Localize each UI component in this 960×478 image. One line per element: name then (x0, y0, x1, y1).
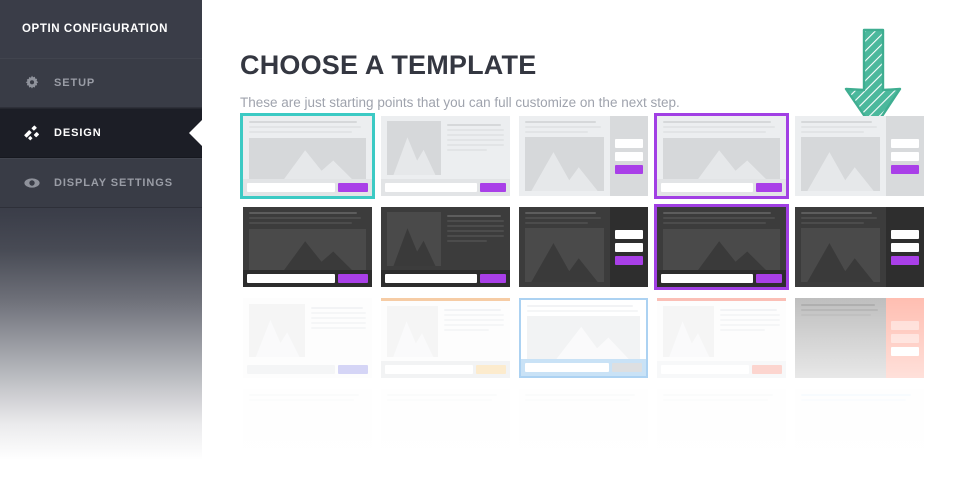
template-cta-button (756, 274, 782, 283)
template-input (385, 274, 477, 283)
eye-icon (20, 172, 44, 194)
template-sidebar-pane (886, 298, 924, 378)
template-cta-button (752, 365, 782, 374)
template-cta-button (338, 365, 368, 374)
template-thumbnail[interactable] (654, 204, 789, 290)
template-thumbnail[interactable] (516, 295, 651, 381)
template-thumbnail[interactable] (792, 204, 927, 290)
sidebar-item-design[interactable]: DESIGN (0, 108, 202, 158)
sidebar-item-label: SETUP (54, 77, 95, 89)
template-input (525, 363, 609, 372)
template-input (385, 365, 473, 374)
template-sidebar-pane (886, 207, 924, 287)
template-thumbnail[interactable] (378, 386, 513, 472)
template-sidebar-pane (610, 207, 648, 287)
template-thumbnail[interactable] (792, 386, 927, 472)
template-thumbnail[interactable] (240, 386, 375, 472)
template-thumbnail[interactable] (792, 295, 927, 381)
template-thumbnail[interactable] (792, 113, 927, 199)
template-cta-button (756, 183, 782, 192)
template-input (661, 274, 753, 283)
main-content: CHOOSE A TEMPLATE These are just startin… (202, 0, 960, 478)
template-cta-button (338, 274, 368, 283)
template-cta-button (480, 183, 506, 192)
template-thumbnail[interactable] (654, 386, 789, 472)
sidebar-item-label: DISPLAY SETTINGS (54, 177, 173, 189)
template-thumbnail[interactable] (240, 113, 375, 199)
optin-configuration-screen: OPTIN CONFIGURATION SETUP (0, 0, 960, 478)
wand-icon (20, 122, 44, 144)
sidebar-header-title: OPTIN CONFIGURATION (22, 23, 168, 35)
sidebar-item-display-settings[interactable]: DISPLAY SETTINGS (0, 158, 202, 208)
template-thumbnail[interactable] (378, 295, 513, 381)
template-row-4 (240, 386, 930, 472)
template-thumbnail[interactable] (654, 295, 789, 381)
active-caret-icon (189, 120, 202, 146)
template-row-2 (240, 204, 930, 290)
template-cta-button (480, 274, 506, 283)
template-thumbnail[interactable] (240, 295, 375, 381)
template-cta-button (615, 256, 643, 265)
template-thumbnail[interactable] (654, 113, 789, 199)
template-cta-button (891, 347, 919, 356)
sidebar-item-setup[interactable]: SETUP (0, 58, 202, 108)
sidebar-header: OPTIN CONFIGURATION (0, 0, 202, 58)
template-input (661, 183, 753, 192)
template-thumbnail[interactable] (516, 386, 651, 472)
template-cta-button (338, 183, 368, 192)
sidebar: OPTIN CONFIGURATION SETUP (0, 0, 202, 478)
template-cta-button (476, 365, 506, 374)
template-cta-button (891, 256, 919, 265)
template-input (247, 274, 335, 283)
template-cta-button (612, 363, 642, 372)
template-row-3 (240, 295, 930, 381)
template-thumbnail[interactable] (516, 113, 651, 199)
template-input (247, 183, 335, 192)
template-row-1 (240, 113, 930, 199)
template-thumbnail[interactable] (378, 204, 513, 290)
gear-icon (20, 72, 44, 94)
template-sidebar-pane (610, 116, 648, 196)
template-sidebar-pane (886, 116, 924, 196)
template-input (385, 183, 477, 192)
sidebar-item-label: DESIGN (54, 127, 102, 139)
template-cta-button (891, 165, 919, 174)
template-thumbnail[interactable] (240, 204, 375, 290)
template-grid (240, 113, 930, 477)
template-input (661, 365, 749, 374)
template-thumbnail[interactable] (378, 113, 513, 199)
template-thumbnail[interactable] (516, 204, 651, 290)
template-cta-button (615, 165, 643, 174)
